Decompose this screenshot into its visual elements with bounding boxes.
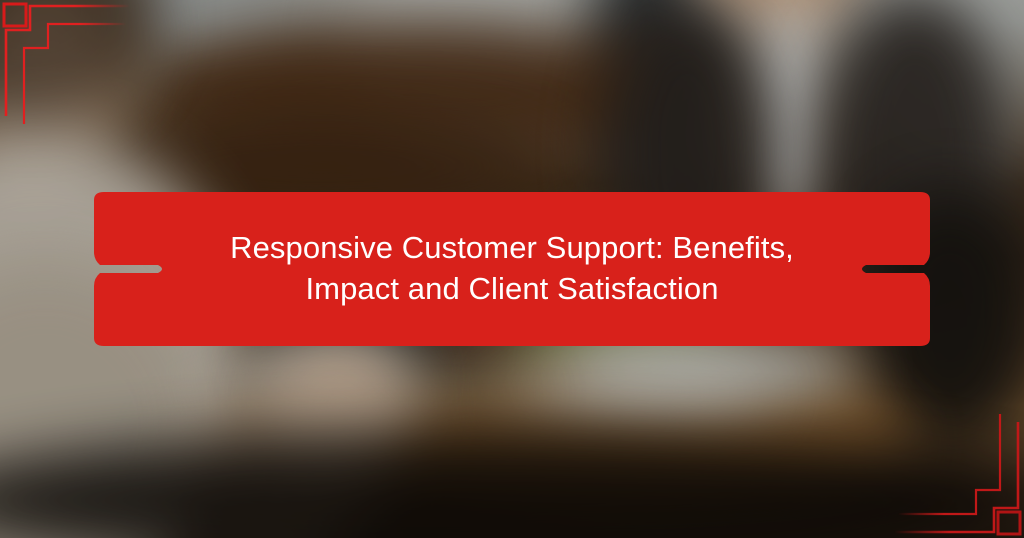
title-ribbon: Responsive Customer Support: Benefits, I…: [86, 190, 938, 348]
title-text-block: Responsive Customer Support: Benefits, I…: [86, 190, 938, 348]
banner-image: Responsive Customer Support: Benefits, I…: [0, 0, 1024, 538]
title-line-1: Responsive Customer Support: Benefits,: [230, 228, 794, 269]
title-line-2: Impact and Client Satisfaction: [305, 269, 718, 310]
